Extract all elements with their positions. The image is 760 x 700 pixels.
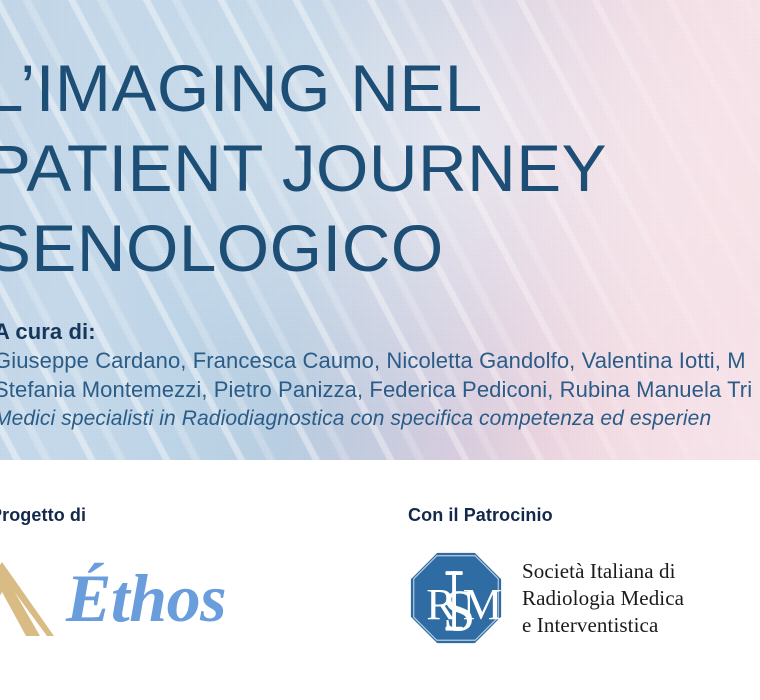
ethos-chevron-icon — [0, 556, 62, 640]
footer-logos: Progetto di Éthos Con il Patrocinio R M — [0, 460, 760, 700]
sirm-name-line-1: Società Italiana di — [522, 558, 684, 585]
patronage-column: Con il Patrocinio R M S Società Ita — [408, 505, 684, 646]
credits-names-line-1: Giuseppe Cardano, Francesca Caumo, Nicol… — [0, 346, 760, 375]
credits-block: A cura di: Giuseppe Cardano, Francesca C… — [0, 318, 760, 434]
credits-label: A cura di: — [0, 318, 760, 346]
patronage-heading: Con il Patrocinio — [408, 505, 684, 526]
title-line-1: L’IMAGING NEL — [0, 48, 760, 128]
presentation-slide: L’IMAGING NEL PATIENT JOURNEY SENOLOGICO… — [0, 0, 760, 700]
sirm-society-name: Società Italiana di Radiologia Medica e … — [522, 558, 684, 639]
ethos-wordmark: Éthos — [66, 563, 226, 633]
page-title: L’IMAGING NEL PATIENT JOURNEY SENOLOGICO — [0, 48, 760, 288]
title-line-3: SENOLOGICO — [0, 208, 760, 288]
ethos-logo: Éthos — [0, 556, 226, 640]
title-line-2: PATIENT JOURNEY — [0, 128, 760, 208]
project-column: Progetto di Éthos — [0, 505, 226, 640]
svg-text:S: S — [443, 578, 476, 644]
sirm-name-line-2: Radiologia Medica — [522, 585, 684, 612]
credits-names-line-2: Stefania Montemezzi, Pietro Panizza, Fed… — [0, 375, 760, 404]
project-heading: Progetto di — [0, 505, 226, 526]
sirm-octagon-monogram-icon: R M S — [408, 550, 504, 646]
sirm-name-line-3: e Interventistica — [522, 612, 684, 639]
credits-qualification-note: Medici specialisti in Radiodiagnostica c… — [0, 404, 760, 434]
sirm-logo: R M S Società Italiana di Radiologia Med… — [408, 550, 684, 646]
hero-banner: L’IMAGING NEL PATIENT JOURNEY SENOLOGICO… — [0, 0, 760, 460]
